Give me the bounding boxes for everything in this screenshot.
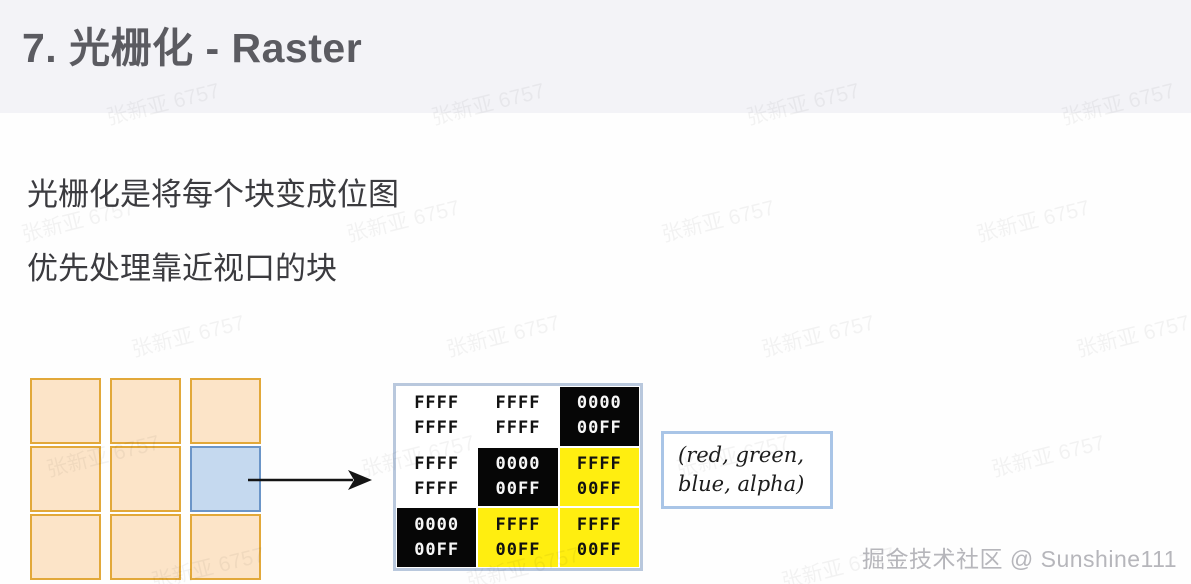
body-copy: 光栅化是将每个块变成位图 优先处理靠近视口的块 — [27, 158, 399, 306]
tile-block — [110, 514, 181, 580]
pixel-cell: 0000 00FF — [397, 508, 476, 567]
rasterize-arrow-icon — [248, 464, 373, 496]
pixel-value-top: FFFF — [577, 452, 622, 477]
tile-block — [30, 514, 101, 580]
corner-credit: 掘金技术社区 @ Sunshine111 — [862, 540, 1177, 574]
tile-grid — [30, 378, 261, 580]
pixel-grid-frame: FFFF FFFF FFFF FFFF 0000 00FF FFFF FFFF … — [393, 383, 643, 571]
tile-block — [110, 446, 181, 512]
pixel-cell: FFFF 00FF — [560, 448, 639, 507]
pixel-value-top: 0000 — [496, 452, 541, 477]
legend-line-1: (red, green, — [678, 441, 830, 470]
pixel-value-top: FFFF — [496, 513, 541, 538]
pixel-value-bottom: 00FF — [577, 416, 622, 441]
body-line-1: 光栅化是将每个块变成位图 — [27, 158, 399, 232]
legend-line-2: blue, alpha) — [678, 470, 830, 499]
pixel-cell: 0000 00FF — [478, 448, 557, 507]
tile-block — [30, 446, 101, 512]
pixel-value-bottom: 00FF — [496, 477, 541, 502]
pixel-value-top: FFFF — [414, 391, 459, 416]
tile-block — [110, 378, 181, 444]
pixel-value-top: FFFF — [414, 452, 459, 477]
tile-block — [190, 514, 261, 580]
pixel-value-top: FFFF — [577, 513, 622, 538]
pixel-grid: FFFF FFFF FFFF FFFF 0000 00FF FFFF FFFF … — [396, 386, 640, 568]
tile-block — [190, 378, 261, 444]
watermark-text: 张新亚 6757 — [973, 191, 1092, 248]
pixel-value-bottom: 00FF — [414, 538, 459, 563]
pixel-value-top: 0000 — [414, 513, 459, 538]
pixel-value-bottom: 00FF — [577, 538, 622, 563]
pixel-cell: FFFF FFFF — [397, 448, 476, 507]
pixel-cell: FFFF 00FF — [560, 508, 639, 567]
pixel-value-bottom: FFFF — [414, 477, 459, 502]
pixel-value-top: FFFF — [496, 391, 541, 416]
watermark-text: 张新亚 6757 — [758, 306, 877, 363]
pixel-value-bottom: FFFF — [414, 416, 459, 441]
watermark-text: 张新亚 6757 — [658, 191, 777, 248]
pixel-value-bottom: 00FF — [496, 538, 541, 563]
watermark-text: 张新亚 6757 — [128, 306, 247, 363]
pixel-value-top: 0000 — [577, 391, 622, 416]
pixel-value-bottom: FFFF — [496, 416, 541, 441]
slide-canvas: 7. 光栅化 - Raster 光栅化是将每个块变成位图 优先处理靠近视口的块 … — [0, 0, 1191, 584]
header-band: 7. 光栅化 - Raster — [0, 0, 1191, 113]
tile-block — [30, 378, 101, 444]
pixel-cell: FFFF FFFF — [478, 387, 557, 446]
rgba-legend-box: (red, green, blue, alpha) — [661, 431, 833, 509]
watermark-text: 张新亚 6757 — [1073, 306, 1191, 363]
body-line-2: 优先处理靠近视口的块 — [27, 232, 399, 306]
watermark-text: 张新亚 6757 — [443, 306, 562, 363]
page-title: 7. 光栅化 - Raster — [22, 14, 362, 74]
pixel-cell: FFFF 00FF — [478, 508, 557, 567]
watermark-text: 张新亚 6757 — [988, 426, 1107, 483]
pixel-cell: 0000 00FF — [560, 387, 639, 446]
pixel-cell: FFFF FFFF — [397, 387, 476, 446]
pixel-value-bottom: 00FF — [577, 477, 622, 502]
